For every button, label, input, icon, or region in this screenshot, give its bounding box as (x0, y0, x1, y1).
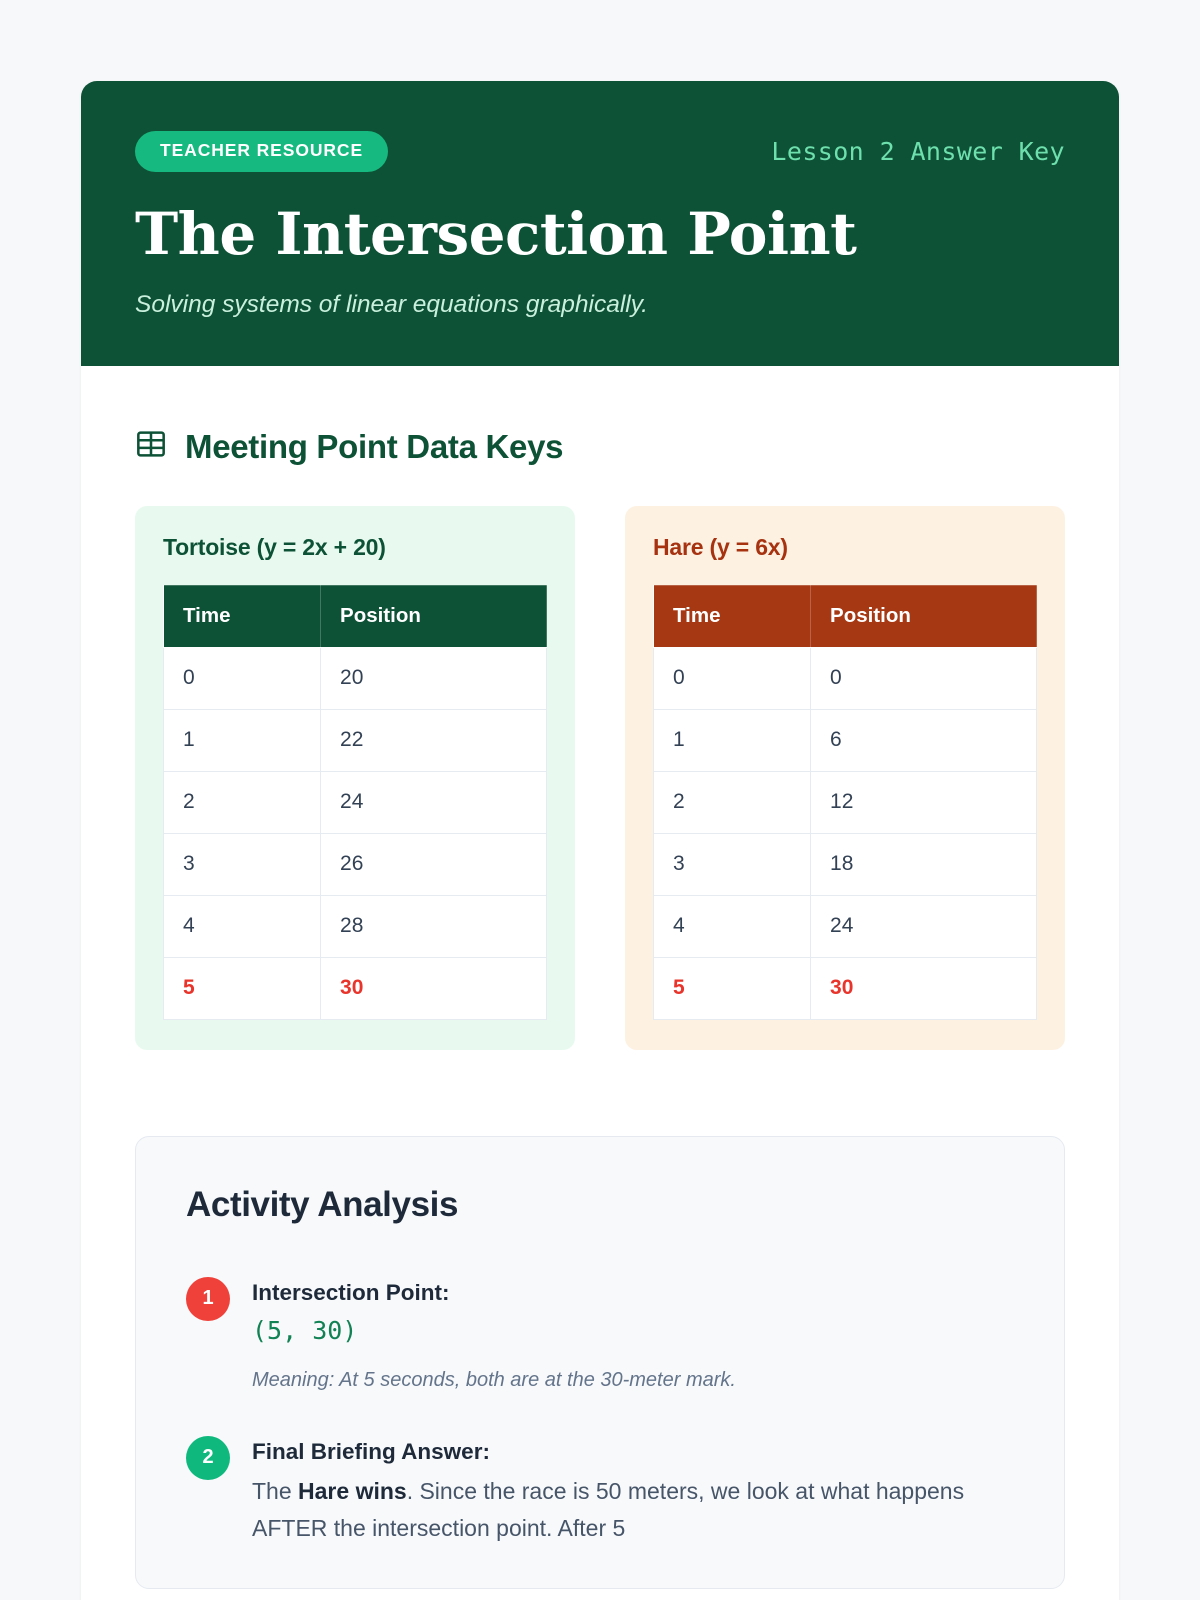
cell-time: 5 (164, 957, 321, 1019)
data-cards-row: Tortoise (y = 2x + 20) Time Position 0 2… (135, 506, 1065, 1050)
column-header-time: Time (654, 585, 811, 647)
cell-position: 0 (811, 647, 1037, 709)
column-header-time: Time (164, 585, 321, 647)
table-header-row: Time Position (654, 585, 1037, 647)
table-row: 0 0 (654, 647, 1037, 709)
cell-position: 30 (811, 957, 1037, 1019)
cell-time: 0 (164, 647, 321, 709)
hare-data-card: Hare (y = 6x) Time Position 0 0 (625, 506, 1065, 1050)
final-briefing-answer-text: The Hare wins. Since the race is 50 mete… (252, 1473, 1014, 1548)
tortoise-table: Time Position 0 20 1 22 (163, 585, 547, 1020)
document-header: TEACHER RESOURCE Lesson 2 Answer Key The… (81, 81, 1119, 366)
cell-time: 1 (164, 709, 321, 771)
section-title: Meeting Point Data Keys (185, 428, 563, 466)
table-row: 1 6 (654, 709, 1037, 771)
document-card: TEACHER RESOURCE Lesson 2 Answer Key The… (81, 81, 1119, 1600)
table-row: 4 28 (164, 895, 547, 957)
cell-time: 1 (654, 709, 811, 771)
column-header-position: Position (321, 585, 547, 647)
cell-time: 4 (164, 895, 321, 957)
intersection-point-note: Meaning: At 5 seconds, both are at the 3… (252, 1366, 1014, 1394)
table-row: 3 18 (654, 833, 1037, 895)
page-subtitle: Solving systems of linear equations grap… (135, 290, 1065, 319)
cell-position: 26 (321, 833, 547, 895)
page-title: The Intersection Point (135, 204, 1065, 265)
document-body: Meeting Point Data Keys Tortoise (y = 2x… (81, 366, 1119, 1589)
table-header-row: Time Position (164, 585, 547, 647)
cell-position: 20 (321, 647, 547, 709)
cell-time: 0 (654, 647, 811, 709)
section-header: Meeting Point Data Keys (135, 428, 1065, 466)
answer-text-before: The (252, 1478, 298, 1504)
analysis-item-1: 1 Intersection Point: (5, 30) Meaning: A… (186, 1275, 1014, 1394)
table-row: 3 26 (164, 833, 547, 895)
table-row: 2 12 (654, 771, 1037, 833)
tortoise-data-card: Tortoise (y = 2x + 20) Time Position 0 2… (135, 506, 575, 1050)
cell-time: 2 (654, 771, 811, 833)
hare-table: Time Position 0 0 1 6 (653, 585, 1037, 1020)
page-root: TEACHER RESOURCE Lesson 2 Answer Key The… (0, 0, 1200, 1600)
table-row-highlighted: 5 30 (164, 957, 547, 1019)
cell-time: 4 (654, 895, 811, 957)
cell-position: 24 (321, 771, 547, 833)
table-row: 2 24 (164, 771, 547, 833)
table-row: 0 20 (164, 647, 547, 709)
cell-position: 12 (811, 771, 1037, 833)
intersection-point-label: Intersection Point: (252, 1278, 1014, 1308)
cell-position: 22 (321, 709, 547, 771)
analysis-item-2: 2 Final Briefing Answer: The Hare wins. … (186, 1434, 1014, 1548)
cell-time: 3 (164, 833, 321, 895)
column-header-position: Position (811, 585, 1037, 647)
cell-position: 18 (811, 833, 1037, 895)
cell-time: 2 (164, 771, 321, 833)
cell-position: 30 (321, 957, 547, 1019)
teacher-resource-badge: TEACHER RESOURCE (135, 131, 388, 172)
analysis-item-body: Intersection Point: (5, 30) Meaning: At … (252, 1275, 1014, 1394)
tortoise-card-title: Tortoise (y = 2x + 20) (163, 534, 547, 561)
cell-time: 3 (654, 833, 811, 895)
cell-position: 28 (321, 895, 547, 957)
table-row: 1 22 (164, 709, 547, 771)
final-briefing-answer-label: Final Briefing Answer: (252, 1437, 1014, 1467)
step-number-badge: 2 (186, 1436, 230, 1480)
activity-analysis-title: Activity Analysis (186, 1185, 1014, 1225)
table-row: 4 24 (654, 895, 1037, 957)
hare-card-title: Hare (y = 6x) (653, 534, 1037, 561)
analysis-item-body: Final Briefing Answer: The Hare wins. Si… (252, 1434, 1014, 1548)
lesson-answer-key-label: Lesson 2 Answer Key (771, 137, 1065, 166)
cell-time: 5 (654, 957, 811, 1019)
header-top-row: TEACHER RESOURCE Lesson 2 Answer Key (135, 131, 1065, 172)
cell-position: 6 (811, 709, 1037, 771)
cell-position: 24 (811, 895, 1037, 957)
answer-text-bold: Hare wins (298, 1478, 407, 1504)
table-row-highlighted: 5 30 (654, 957, 1037, 1019)
activity-analysis-card: Activity Analysis 1 Intersection Point: … (135, 1136, 1065, 1589)
table-grid-icon (135, 428, 167, 465)
step-number-badge: 1 (186, 1277, 230, 1321)
intersection-point-value: (5, 30) (252, 1312, 1014, 1350)
